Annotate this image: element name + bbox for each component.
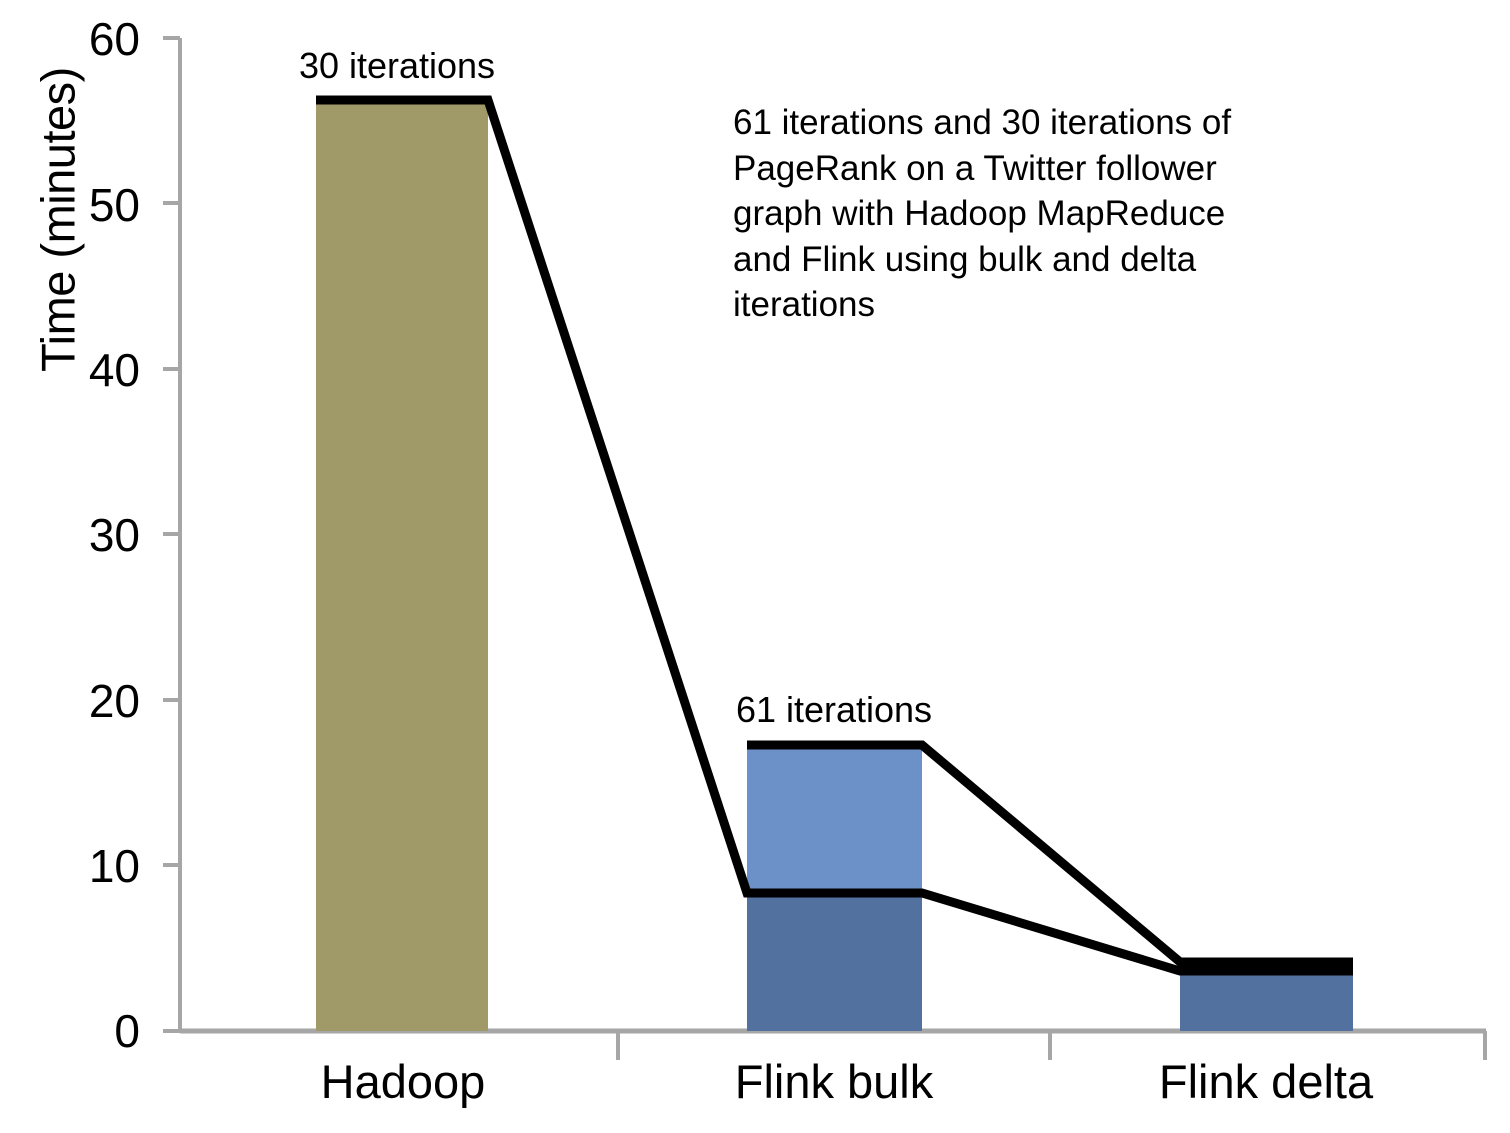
x-tick-label-flink-delta: Flink delta [1116,1058,1416,1105]
y-axis-ticks [163,38,180,1031]
x-tick-label-flink-bulk: Flink bulk [684,1058,984,1105]
hadoop-bar-note: 30 iterations [292,48,502,84]
bar-hadoop [316,102,488,1031]
flink-bulk-bar-note: 61 iterations [728,692,940,728]
chart-caption: 61 iterations and 30 iterations of PageR… [733,100,1293,328]
pagerank-runtime-bar-chart: Time (minutes) 60 50 40 30 20 10 0 [0,0,1510,1133]
bar-flink-bulk-upper [747,745,922,893]
bar-flink-delta-lower [1180,971,1353,1031]
bar-flink-bulk-lower [747,893,922,1031]
x-tick-label-hadoop: Hadoop [253,1058,553,1105]
